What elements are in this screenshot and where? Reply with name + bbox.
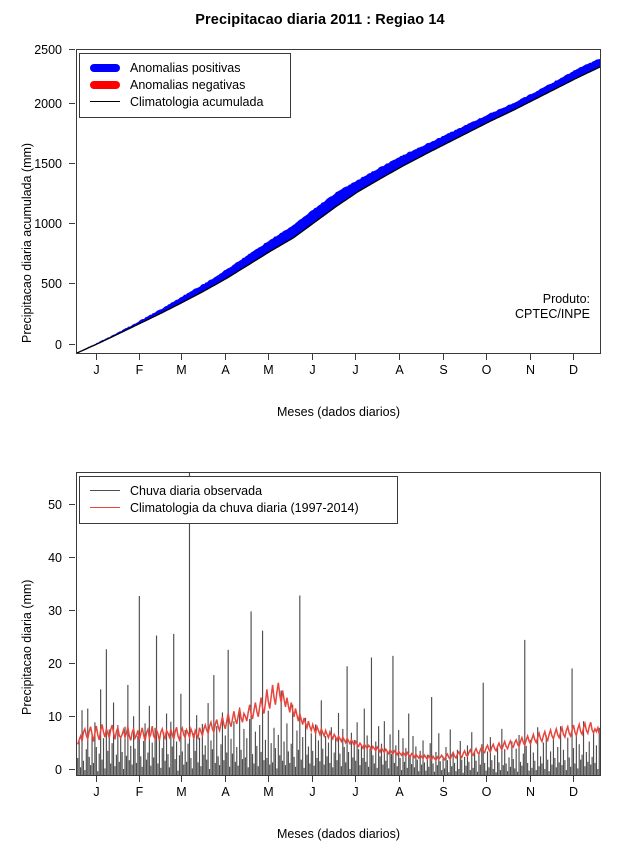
bottom-y-tick-50: 50 (24, 498, 62, 512)
bottom-y-tick-40: 40 (24, 551, 62, 565)
legend-label: Anomalias negativas (124, 78, 245, 92)
legend-label: Climatologia acumulada (124, 95, 263, 109)
bottom-x-label-sep: S (433, 785, 454, 799)
bottom-y-tick-30: 30 (24, 604, 62, 618)
top-y-tick-0: 0 (24, 338, 62, 352)
bottom-y-axis-label: Precipitacao diaria (mm) (20, 580, 34, 715)
top-x-label-oct: O (476, 363, 497, 377)
bottom-y-tick-20: 20 (24, 657, 62, 671)
bottom-x-tick-mark (530, 776, 531, 782)
top-y-tick-mark (69, 103, 75, 104)
bottom-y-tick-mark (69, 663, 75, 664)
bottom-x-label-jan: J (86, 785, 107, 799)
top-y-axis-label: Precipitacao diaria acumulada (mm) (20, 143, 34, 343)
top-legend: Anomalias positivas Anomalias negativas … (79, 53, 291, 118)
top-x-label-nov: N (520, 363, 541, 377)
legend-item-climatologia-diaria: Climatologia da chuva diaria (1997-2014) (86, 499, 389, 516)
top-y-tick-2000: 2000 (24, 97, 62, 111)
top-x-label-dec: D (563, 363, 584, 377)
bottom-x-label-dec: D (563, 785, 584, 799)
bottom-x-label-oct: O (476, 785, 497, 799)
top-x-axis-label: Meses (dados diarios) (76, 405, 601, 419)
bottom-legend: Chuva diaria observada Climatologia da c… (79, 476, 398, 524)
top-x-tick-mark (355, 354, 356, 360)
top-y-tick-mark (69, 163, 75, 164)
bottom-x-axis-label: Meses (dados diarios) (76, 827, 601, 841)
blue-line-icon (86, 64, 124, 72)
bottom-x-label-mar: M (171, 785, 192, 799)
top-x-label-feb: F (129, 363, 150, 377)
bottom-x-tick-mark (181, 776, 182, 782)
bottom-x-tick-mark (399, 776, 400, 782)
legend-item-climatologia-acumulada: Climatologia acumulada (86, 93, 282, 110)
daily-precipitation-panel: Produto: CPTEC/INPE Precipitacao diaria … (0, 425, 640, 850)
top-x-tick-mark (312, 354, 313, 360)
bottom-x-tick-mark (573, 776, 574, 782)
top-x-tick-mark (96, 354, 97, 360)
top-x-tick-mark (268, 354, 269, 360)
top-produto-annotation: Produto: CPTEC/INPE (400, 292, 590, 323)
bottom-y-tick-mark (69, 716, 75, 717)
bottom-x-tick-mark (312, 776, 313, 782)
bottom-x-label-feb: F (129, 785, 150, 799)
top-x-tick-mark (443, 354, 444, 360)
bottom-x-tick-mark (355, 776, 356, 782)
bottom-x-label-jun: J (302, 785, 323, 799)
bottom-y-tick-mark (69, 504, 75, 505)
top-x-tick-mark (399, 354, 400, 360)
bottom-x-label-aug: A (389, 785, 410, 799)
top-x-label-jul: J (345, 363, 366, 377)
produto-line-2: CPTEC/INPE (400, 307, 590, 322)
top-x-tick-mark (225, 354, 226, 360)
bottom-x-label-nov: N (520, 785, 541, 799)
legend-item-anomalias-positivas: Anomalias positivas (86, 59, 282, 76)
bottom-y-tick-10: 10 (24, 710, 62, 724)
bottom-y-tick-0: 0 (24, 763, 62, 777)
top-y-tick-mark (69, 49, 75, 50)
top-x-label-mar: M (171, 363, 192, 377)
top-y-tick-2500: 2500 (24, 43, 62, 57)
legend-label: Anomalias positivas (124, 61, 240, 75)
legend-label: Climatologia da chuva diaria (1997-2014) (124, 501, 359, 515)
top-y-tick-1000: 1000 (24, 217, 62, 231)
top-x-tick-mark (181, 354, 182, 360)
top-x-label-aug: A (389, 363, 410, 377)
bottom-y-tick-mark (69, 610, 75, 611)
gray-line-icon (86, 490, 124, 491)
bottom-x-tick-mark (486, 776, 487, 782)
bottom-x-tick-mark (443, 776, 444, 782)
top-x-tick-mark (573, 354, 574, 360)
red-line-icon (86, 507, 124, 508)
top-x-tick-mark (486, 354, 487, 360)
black-line-icon (86, 101, 124, 102)
bottom-x-label-may: M (258, 785, 279, 799)
legend-item-chuva-observada: Chuva diaria observada (86, 482, 389, 499)
bottom-y-tick-mark (69, 557, 75, 558)
bottom-x-tick-mark (225, 776, 226, 782)
legend-item-anomalias-negativas: Anomalias negativas (86, 76, 282, 93)
top-x-label-jan: J (86, 363, 107, 377)
top-y-tick-mark (69, 344, 75, 345)
bottom-x-tick-mark (96, 776, 97, 782)
top-x-label-may: M (258, 363, 279, 377)
accumulated-precipitation-panel: Precipitacao diaria acumulada (mm) 0 500… (0, 0, 640, 425)
top-x-label-apr: A (215, 363, 236, 377)
top-x-tick-mark (139, 354, 140, 360)
top-y-tick-500: 500 (24, 277, 62, 291)
top-x-label-sep: S (433, 363, 454, 377)
bottom-x-label-apr: A (215, 785, 236, 799)
top-y-tick-mark (69, 283, 75, 284)
top-y-tick-mark (69, 223, 75, 224)
top-y-tick-1500: 1500 (24, 157, 62, 171)
top-x-label-jun: J (302, 363, 323, 377)
legend-label: Chuva diaria observada (124, 484, 262, 498)
bottom-x-tick-mark (268, 776, 269, 782)
top-x-tick-mark (530, 354, 531, 360)
produto-line-1: Produto: (400, 292, 590, 307)
bottom-x-tick-mark (139, 776, 140, 782)
bottom-x-label-jul: J (345, 785, 366, 799)
figure-canvas: Precipitacao diaria 2011 : Regiao 14 Pre… (0, 0, 640, 850)
bottom-y-tick-mark (69, 769, 75, 770)
red-line-icon (86, 81, 124, 89)
